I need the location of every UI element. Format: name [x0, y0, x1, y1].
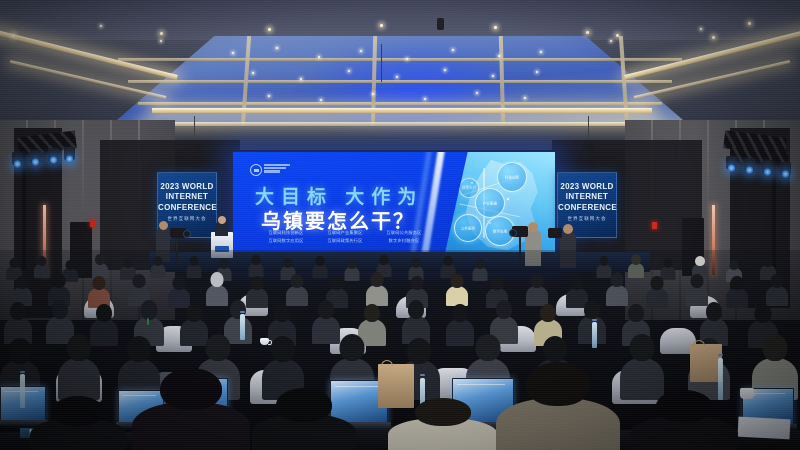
- attendee-foreground: [30, 396, 126, 450]
- banner-right-line-cn: 世界互联网大会: [558, 216, 616, 222]
- attendee-head: [52, 300, 68, 319]
- ceiling-downlight: [700, 28, 702, 30]
- speaker-wire: [381, 44, 382, 82]
- attendee-head: [133, 274, 146, 288]
- attendee: [628, 254, 644, 278]
- attendee-head: [10, 302, 26, 320]
- attendee-foreground: [132, 368, 250, 450]
- ceiling-spot: [616, 34, 619, 37]
- map-bubble-label: 产业集聚: [483, 201, 497, 206]
- ceiling-beam: [118, 58, 682, 61]
- attendee-head: [411, 276, 424, 290]
- attendee: [366, 272, 388, 306]
- attendee-head: [318, 300, 334, 319]
- main-led-screen: 科技创新 产业集聚 公共服务 数字应用 政策先行 大目标 大作为 乌镇要怎么干？…: [233, 152, 555, 257]
- attendee-body: [726, 288, 748, 308]
- ceiling-downlight: [268, 95, 270, 97]
- ceiling-downlight: [444, 69, 446, 71]
- ceiling-spot: [12, 34, 15, 37]
- ceiling-downlight: [424, 98, 426, 100]
- attendee: [312, 256, 327, 278]
- attendee-head: [38, 256, 47, 266]
- attendee: [726, 276, 748, 308]
- attendee: [606, 272, 628, 306]
- attendee: [472, 259, 487, 281]
- attendee-head: [93, 276, 106, 290]
- map-bubble-label: 公共服务: [461, 226, 475, 231]
- screen-sub-item: 互联网产业集聚区: [318, 230, 372, 236]
- attendee: [248, 255, 263, 277]
- attendee-head: [251, 255, 260, 265]
- attendee-head: [127, 336, 151, 362]
- attendee-foreground: [496, 362, 620, 450]
- attendee-head: [95, 254, 105, 265]
- attendee: [186, 256, 201, 278]
- conference-hall-scene: 科技创新 产业集聚 公共服务 数字应用 政策先行 大目标 大作为 乌镇要怎么干？…: [0, 0, 800, 450]
- attendee-head: [691, 274, 704, 288]
- ceiling-downlight: [524, 97, 526, 99]
- attendee-body: [628, 263, 644, 278]
- attendee-body: [248, 263, 263, 277]
- map-marker: [507, 198, 509, 200]
- attendee-head: [407, 338, 431, 364]
- map-bubble: 公共服务: [454, 214, 482, 242]
- attendee-head: [10, 258, 19, 268]
- ceiling-spot: [380, 24, 383, 27]
- ceiling-downlight: [452, 49, 454, 51]
- attendee-head: [452, 304, 468, 322]
- attendee-head: [153, 256, 162, 266]
- attendee-head: [206, 334, 231, 361]
- screen-sub-item: 互联网政策先行区: [318, 238, 372, 244]
- water-bottle: [240, 314, 245, 340]
- attendee-head: [540, 304, 556, 322]
- attendee-head: [475, 259, 484, 269]
- ceiling-downlight: [318, 56, 320, 58]
- ceiling-beam: [128, 80, 672, 83]
- map-bubble: 政策先行: [459, 178, 479, 198]
- attendee-head: [160, 368, 222, 410]
- attendee-head: [628, 304, 644, 322]
- attendee-head: [611, 272, 624, 287]
- ceiling-downlight: [360, 50, 362, 52]
- ceiling-spot: [268, 28, 271, 31]
- attendee-head: [173, 276, 186, 290]
- ceiling-downlight: [252, 72, 254, 74]
- stage-light: [30, 150, 41, 163]
- attendee-head: [651, 276, 664, 290]
- ceiling-spot: [586, 31, 589, 34]
- bottle-cap: [420, 374, 425, 376]
- attendee-head: [291, 274, 304, 288]
- document-handout: [738, 417, 791, 440]
- attendee-head: [124, 258, 133, 268]
- ceiling-downlight: [536, 71, 538, 73]
- coffee-cup: [740, 388, 754, 399]
- screen-sub-item: 互联网公共服务区: [377, 230, 431, 236]
- banner-right-line1: 2023 WORLD: [558, 182, 616, 191]
- attendee-head: [274, 304, 290, 322]
- attendee-head: [408, 300, 424, 319]
- attendee-head: [443, 256, 452, 266]
- ceiling-spot: [494, 26, 497, 29]
- bottle-cap: [20, 371, 25, 373]
- attendee-lanyard: [147, 318, 149, 325]
- attendee-head: [415, 398, 471, 426]
- attendee-head: [571, 276, 584, 290]
- attendee-head: [276, 388, 332, 422]
- attendee-head: [219, 259, 228, 269]
- ceiling-downlight: [300, 78, 302, 80]
- camera-operator-head: [563, 224, 573, 234]
- attendee-head: [186, 304, 202, 322]
- ceiling-spot: [712, 36, 715, 39]
- attendee-head: [763, 256, 773, 267]
- attendee-head: [599, 256, 608, 266]
- banner-right-line3: CONFERENCE: [558, 203, 616, 212]
- ceiling-downlight: [406, 58, 408, 60]
- attendee-head: [347, 259, 356, 269]
- ceiling-downlight: [492, 75, 494, 77]
- ceiling-downlight: [476, 92, 478, 94]
- ceiling-beam: [138, 102, 662, 105]
- attendee-head: [755, 304, 772, 323]
- attendee-head: [731, 276, 744, 290]
- wic-logo-mark-icon: [250, 164, 262, 176]
- banner-left-line1: 2023 WORLD: [158, 182, 216, 191]
- stage-light: [12, 152, 23, 165]
- banner-left-line3: CONFERENCE: [158, 203, 216, 212]
- screen-sub-item: 互联网科技创新区: [259, 230, 313, 236]
- attendee-head: [476, 334, 501, 361]
- attendee: [766, 274, 788, 306]
- map-bubble-label: 科技创新: [505, 175, 519, 180]
- camera-lens: [183, 230, 191, 238]
- ceiling-downlight: [160, 40, 162, 42]
- attendee-head: [283, 258, 292, 268]
- stage-light: [64, 147, 75, 160]
- attendee-head: [67, 334, 91, 361]
- attendee-body: [366, 285, 388, 306]
- cove-light-center: [152, 108, 652, 113]
- attendee-foreground: [388, 398, 498, 450]
- attendee: [92, 254, 108, 278]
- screen-sub-items: 互联网科技创新区 互联网产业集聚区 互联网公共服务区 互联网数字应用区 互联网政…: [259, 230, 431, 244]
- attendee-body: [312, 264, 327, 278]
- map-bubble-label: 数字应用: [493, 229, 507, 234]
- ceiling-downlight: [320, 99, 322, 101]
- video-camera-far-right: [548, 228, 562, 238]
- attendee-head: [141, 300, 158, 320]
- attendee-head: [66, 260, 75, 270]
- attendee: [446, 274, 468, 306]
- attendee-body: [766, 286, 788, 306]
- attendee-head: [663, 258, 672, 268]
- attendee-body: [286, 286, 308, 306]
- attendee-head: [411, 258, 420, 268]
- attendee-head: [496, 300, 512, 319]
- attendee-body: [472, 267, 487, 281]
- coffee-cup: [260, 338, 269, 345]
- ceiling-downlight: [276, 47, 278, 49]
- presenter-head: [218, 216, 226, 224]
- attendee-head: [364, 304, 380, 322]
- ceiling-fixture: [437, 18, 444, 30]
- camera-operator-head: [159, 221, 168, 230]
- attendee: [526, 274, 548, 306]
- attendee-body: [58, 358, 100, 400]
- attendee-head: [53, 274, 66, 288]
- attendee-body: [526, 286, 548, 306]
- attendee-head: [730, 260, 739, 270]
- bottle-cap: [718, 354, 723, 356]
- attendee-head: [706, 302, 722, 321]
- exit-sign: [652, 222, 657, 229]
- ceiling-downlight: [372, 93, 374, 95]
- screen-sub-item: 互联网数字应用区: [259, 238, 313, 244]
- stage-light: [726, 156, 737, 169]
- banner-left-line2: INTERNET: [158, 192, 216, 201]
- stage-light: [780, 162, 791, 175]
- attendee: [58, 334, 100, 400]
- attendee-head: [16, 276, 28, 289]
- attendee-head: [631, 254, 641, 265]
- ceiling-downlight: [232, 52, 234, 54]
- attendee-head: [543, 336, 567, 362]
- attendee-head: [630, 334, 655, 361]
- attendee-head: [451, 274, 464, 288]
- map-bubble: 产业集聚: [475, 188, 505, 218]
- ceiling-spot: [160, 32, 163, 35]
- attendee-foreground: [252, 388, 356, 450]
- stage-light: [744, 158, 755, 171]
- attendee-head: [96, 304, 112, 322]
- exit-sign: [90, 220, 95, 227]
- ceiling-downlight: [396, 76, 398, 78]
- water-bottle: [592, 322, 597, 348]
- camera-operator-head: [528, 222, 538, 232]
- attendee: [286, 274, 308, 306]
- ceiling-downlight: [540, 51, 542, 53]
- attendee-body: [446, 286, 468, 306]
- attendee-head: [491, 276, 504, 290]
- ceiling-spot: [748, 22, 751, 25]
- ceiling-downlight: [498, 55, 500, 57]
- attendee-foreground: [630, 390, 738, 450]
- ceiling-downlight: [610, 40, 612, 42]
- attendee-body: [606, 285, 628, 306]
- attendee-head: [526, 362, 590, 406]
- banner-right-line2: INTERNET: [558, 192, 616, 201]
- attendee-head: [211, 272, 224, 287]
- attendee-head: [379, 255, 388, 265]
- stage-light: [48, 148, 59, 161]
- bottle-cap: [240, 311, 245, 313]
- attendee-head: [331, 276, 344, 290]
- attendee-head: [656, 390, 712, 422]
- attendee-head: [52, 396, 104, 426]
- camera-lens: [509, 229, 517, 237]
- water-bottle: [20, 374, 25, 408]
- bottle-cap: [592, 319, 597, 321]
- ceiling-upper-dark: [0, 0, 800, 40]
- cove-light-center-lower: [140, 122, 660, 126]
- attendee-head: [9, 338, 32, 364]
- attendee-body: [150, 264, 165, 278]
- attendee-head: [271, 336, 295, 362]
- attendee-head: [531, 274, 544, 288]
- map-bubble: 科技创新: [497, 162, 527, 192]
- attendee-head: [340, 334, 365, 361]
- map-bubble-label: 政策先行: [462, 186, 476, 191]
- audience-area: [0, 250, 800, 450]
- attendee-head: [251, 276, 264, 290]
- attendee-head: [584, 300, 600, 319]
- attendee-head: [315, 256, 324, 266]
- wic-logo-text-lines: [264, 164, 290, 175]
- screen-sub-item: 数字乡村融合区: [377, 238, 431, 244]
- stage-light: [762, 160, 773, 173]
- attendee-head: [189, 256, 198, 266]
- attendee-head: [371, 272, 384, 287]
- attendee: [150, 256, 165, 278]
- attendee-head: [763, 334, 788, 361]
- attendee-head: [695, 256, 705, 266]
- attendee-head: [771, 274, 784, 288]
- ceiling-downlight: [348, 70, 350, 72]
- ceiling-downlight: [100, 25, 102, 27]
